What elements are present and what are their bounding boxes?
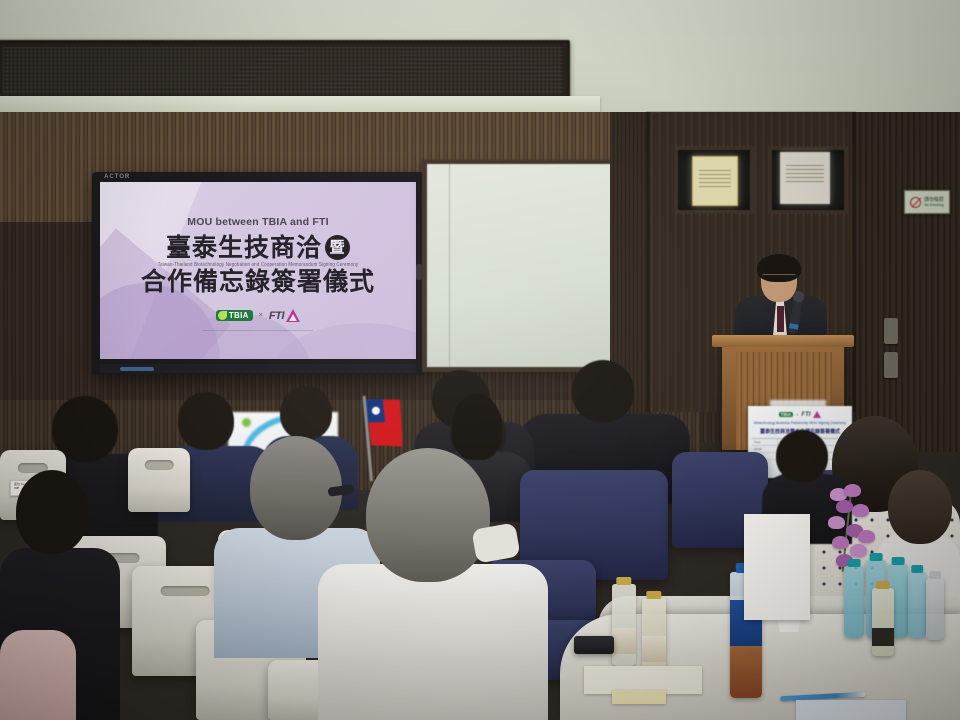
chair-handle-slot	[161, 586, 210, 596]
slide-headline-secondary: 合作備忘錄簽署儀式	[141, 269, 375, 295]
glass-beverage-bottle[interactable]	[612, 584, 636, 666]
water-bottle[interactable]	[908, 572, 926, 638]
fti-logo-text: FTI	[269, 310, 284, 322]
slide-headline-primary-text: 臺泰生技商洽	[166, 235, 322, 260]
bottle-label	[612, 628, 636, 654]
framed-certificate-1	[692, 156, 738, 206]
slide-eyebrow-text: MOU between TBIA and FTI	[187, 216, 329, 228]
bottle-cap	[911, 565, 923, 573]
audience-head	[280, 386, 332, 440]
no-smoking-text: 請勿吸菸 No Smoking	[924, 197, 944, 208]
chair-gray-left-back[interactable]	[128, 448, 190, 512]
slide-headline-primary: 臺泰生技商洽 暨	[166, 235, 350, 260]
slide-divider-rule	[203, 330, 313, 331]
bottle-cap	[646, 591, 661, 599]
leaf-icon	[218, 311, 227, 320]
glass-beverage-bottle[interactable]	[642, 598, 666, 672]
orchid-petal	[828, 516, 845, 529]
no-smoking-zh: 請勿吸菸	[924, 197, 944, 203]
cabinet-glass-right	[768, 146, 848, 214]
cabinet-glass-left	[674, 146, 754, 214]
right-wall-panel	[856, 112, 960, 452]
speaker-glasses	[762, 274, 796, 281]
no-smoking-en: No Smoking	[924, 203, 944, 207]
led-marquee-sign	[0, 40, 570, 102]
photo-scene: ACTOR MOU between TBIA and FTI 臺泰生技商洽 暨 …	[0, 0, 960, 720]
orchid-petal	[844, 484, 861, 497]
water-bottle[interactable]	[926, 578, 944, 640]
paper-sheet[interactable]	[796, 700, 906, 720]
presentation-slide: MOU between TBIA and FTI 臺泰生技商洽 暨 Taiwan…	[100, 182, 416, 359]
orchid-petal	[836, 500, 853, 513]
whiteboard[interactable]: ✚	[422, 160, 630, 372]
orchid-petal	[832, 536, 849, 549]
audience-torso	[318, 564, 548, 720]
slide-logo-row: TBIA × FTI	[216, 309, 300, 322]
flag-sun-icon	[371, 406, 380, 415]
tablet-device[interactable]	[574, 636, 614, 654]
tbia-logo: TBIA	[216, 310, 253, 321]
triangle-icon	[286, 309, 300, 322]
bottle-label	[872, 628, 894, 646]
audience-person-front-center	[318, 448, 548, 720]
monitor-brand-label: ACTOR	[104, 174, 130, 180]
orchid-petal	[850, 544, 867, 557]
standing-card[interactable]	[744, 514, 810, 620]
bottle-label	[642, 636, 666, 662]
no-smoking-icon	[910, 197, 921, 208]
audience-person-pink-garment	[0, 630, 76, 720]
audience-head	[572, 360, 634, 422]
logo-separator: ×	[259, 312, 263, 319]
bottle-cap	[848, 559, 861, 567]
door-plate-lower[interactable]	[884, 352, 898, 378]
water-bottle[interactable]	[844, 566, 864, 638]
orchid-petal	[852, 504, 869, 517]
upper-right-wall	[560, 0, 960, 112]
bottle-cap	[870, 553, 883, 561]
tbia-logo-text: TBIA	[229, 311, 249, 320]
fti-logo: FTI	[269, 309, 300, 322]
glass-beverage-bottle[interactable]	[872, 588, 894, 656]
podium-top	[712, 335, 854, 347]
audience-head	[888, 470, 952, 544]
bottle-cap	[876, 581, 890, 589]
speaker-tie	[777, 306, 784, 332]
program-board-tbia-logo: TBIA	[779, 412, 794, 417]
whiteboard-seam	[449, 164, 450, 367]
slide-seal-character: 暨	[325, 235, 350, 260]
monitor-power-led	[120, 367, 154, 371]
sticky-note[interactable]	[612, 690, 666, 704]
audience-head	[366, 448, 490, 582]
program-board-logo-separator: ×	[796, 412, 798, 417]
audience-head	[16, 470, 88, 554]
presentation-display[interactable]: ACTOR MOU between TBIA and FTI 臺泰生技商洽 暨 …	[92, 172, 424, 375]
door-plate-upper[interactable]	[884, 318, 898, 344]
slide-subtitle-english: Taiwan-Thailand Biotechnology Negotiatio…	[158, 262, 359, 268]
orchid-petal	[858, 530, 875, 543]
bottle-cap	[929, 571, 941, 579]
bottle-cap	[892, 557, 905, 565]
orchid-arrangement	[826, 482, 896, 574]
face-mask-icon	[471, 522, 520, 563]
audience-head	[776, 430, 828, 482]
bottle-cap	[616, 577, 631, 585]
framed-certificate-2	[780, 152, 830, 204]
chair-handle-slot	[145, 460, 174, 470]
microphone-band	[789, 323, 799, 329]
no-smoking-sign: 請勿吸菸 No Smoking	[904, 190, 950, 214]
